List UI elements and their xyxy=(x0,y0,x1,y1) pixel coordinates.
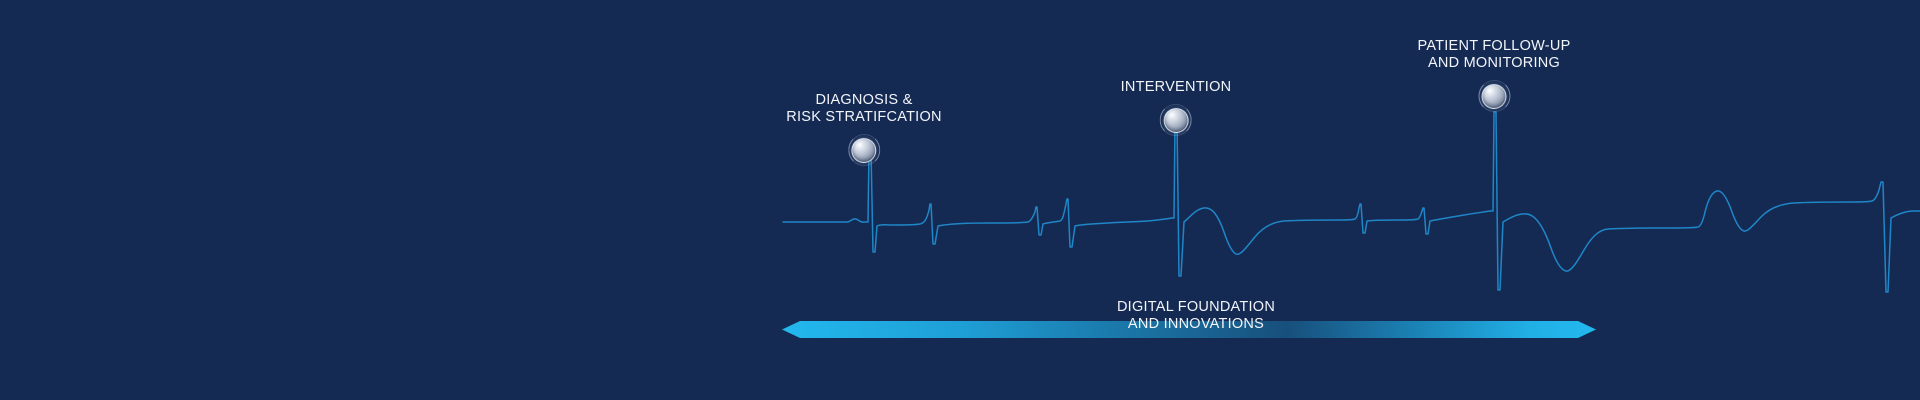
sphere-node-icon[interactable] xyxy=(1159,103,1193,137)
node-sphere-icon xyxy=(1163,108,1188,133)
node-sphere-icon xyxy=(1482,84,1507,109)
milestone-intervention[interactable]: INTERVENTION xyxy=(1121,79,1232,137)
milestone-label-diagnosis: DIAGNOSIS & RISK STRATIFCATION xyxy=(786,92,941,126)
ecg-trace-path xyxy=(783,112,1920,292)
ecg-journey-banner: DIAGNOSIS & RISK STRATIFCATION INTERVENT… xyxy=(0,0,1920,400)
arrow-label-digital-foundation: DIGITAL FOUNDATION AND INNOVATIONS xyxy=(1117,299,1275,333)
sphere-node-icon[interactable] xyxy=(1477,79,1511,113)
milestone-patient-follow-up-and-monitoring[interactable]: PATIENT FOLLOW-UP AND MONITORING xyxy=(1417,38,1570,113)
ecg-trace-group xyxy=(783,112,1920,292)
milestone-label-intervention: INTERVENTION xyxy=(1121,79,1232,96)
ecg-waveform-chart xyxy=(0,0,1920,400)
node-sphere-icon xyxy=(851,138,876,163)
milestone-label-follow-up: PATIENT FOLLOW-UP AND MONITORING xyxy=(1417,38,1570,72)
milestone-diagnosis-risk-stratification[interactable]: DIAGNOSIS & RISK STRATIFCATION xyxy=(786,92,941,167)
sphere-node-icon[interactable] xyxy=(847,133,881,167)
